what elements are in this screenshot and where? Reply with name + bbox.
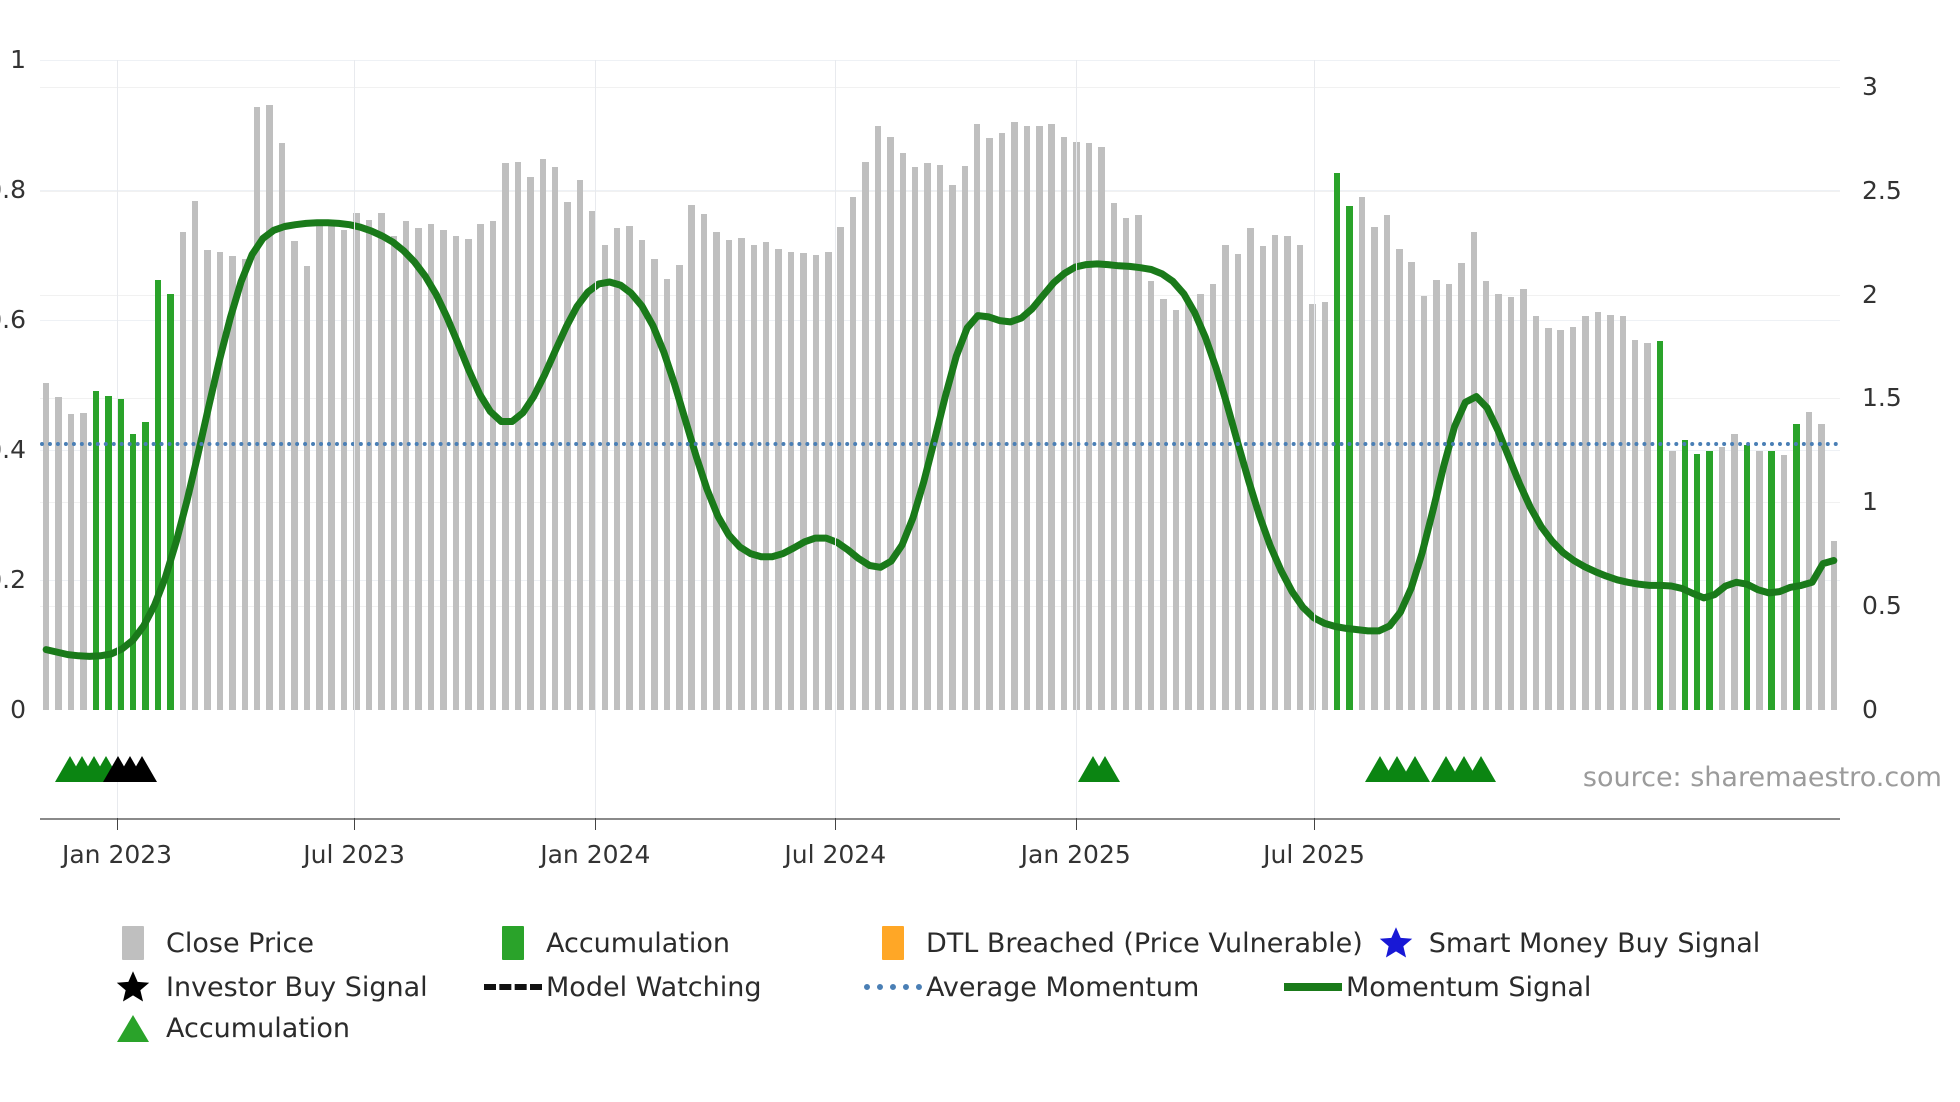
- legend-symbol: [860, 926, 926, 960]
- legend-symbol: [100, 969, 166, 1005]
- y-axis-right: 00.511.522.53: [1848, 60, 1938, 710]
- x-tick-mark: [1314, 818, 1315, 830]
- x-tick-label: Jan 2024: [540, 840, 650, 869]
- legend-item[interactable]: Momentum Signal: [1280, 972, 1740, 1003]
- legend-item[interactable]: Investor Buy Signal: [100, 969, 480, 1005]
- y-tick-left: 0.2: [0, 567, 26, 592]
- legend-row: Accumulation: [100, 1013, 1900, 1044]
- month-separator: [1314, 60, 1315, 818]
- x-tick-mark: [835, 818, 836, 830]
- chart-legend: Close PriceAccumulationDTL Breached (Pri…: [100, 925, 1900, 1052]
- y-tick-left: 0.4: [0, 437, 26, 462]
- y-axis-left: 00.20.40.60.81: [0, 60, 36, 710]
- x-tick-label: Jul 2025: [1263, 840, 1365, 869]
- legend-label: Average Momentum: [926, 972, 1199, 1003]
- legend-label: Momentum Signal: [1346, 972, 1591, 1003]
- legend-symbol: [1363, 925, 1429, 961]
- plot-area: [40, 60, 1840, 710]
- marker-accumulation[interactable]: [1090, 756, 1120, 782]
- triangle-icon: [117, 1015, 149, 1042]
- legend-symbol: [480, 984, 546, 990]
- x-tick-label: Jul 2023: [303, 840, 405, 869]
- plot-clip: [40, 60, 1840, 710]
- dtl-breached-swatch: [882, 926, 904, 960]
- close-price-swatch: [122, 926, 144, 960]
- y-tick-left: 0.6: [0, 307, 26, 332]
- month-separator: [354, 60, 355, 818]
- y-tick-right: 0.5: [1862, 593, 1902, 618]
- legend-symbol: [480, 926, 546, 960]
- x-tick-mark: [595, 818, 596, 830]
- y-tick-left: 0.8: [0, 177, 26, 202]
- marker-accumulation[interactable]: [1466, 756, 1496, 782]
- legend-row: Investor Buy SignalModel WatchingAverage…: [100, 969, 1900, 1005]
- y-tick-right: 1.5: [1862, 385, 1902, 410]
- average-momentum-line: [40, 442, 1840, 446]
- legend-item[interactable]: Accumulation: [480, 926, 860, 960]
- marker-investor-buy-signal[interactable]: [127, 756, 157, 782]
- legend-item[interactable]: Smart Money Buy Signal: [1363, 925, 1823, 961]
- legend-label: Accumulation: [166, 1013, 350, 1044]
- chart-root: 00.20.40.60.81 00.511.522.53 Jan 2023Jul…: [0, 0, 1960, 1102]
- y-tick-left: 1: [10, 47, 26, 72]
- x-tick-mark: [354, 818, 355, 830]
- x-tick-label: Jan 2023: [62, 840, 172, 869]
- y-tick-right: 1: [1862, 489, 1878, 514]
- legend-label: Investor Buy Signal: [166, 972, 428, 1003]
- y-tick-right: 2: [1862, 282, 1878, 307]
- legend-label: Close Price: [166, 928, 314, 959]
- legend-item[interactable]: Accumulation: [100, 1013, 480, 1044]
- momentum-signal-line-sample: [1284, 983, 1342, 991]
- month-separator: [835, 60, 836, 818]
- x-axis-line: [40, 818, 1840, 820]
- month-separator: [595, 60, 596, 818]
- signal-markers: [40, 742, 1840, 782]
- legend-label: Accumulation: [546, 928, 730, 959]
- legend-item[interactable]: Model Watching: [480, 972, 860, 1003]
- marker-accumulation[interactable]: [1400, 756, 1430, 782]
- momentum-signal-line: [40, 60, 1840, 710]
- month-separator: [117, 60, 118, 818]
- average-momentum-line-sample: [864, 984, 922, 990]
- model-watching-line: [484, 984, 542, 990]
- accumulation-swatch: [502, 926, 524, 960]
- legend-symbol: [100, 1015, 166, 1042]
- legend-label: Smart Money Buy Signal: [1429, 928, 1761, 959]
- legend-symbol: [1280, 983, 1346, 991]
- y-tick-right: 0: [1862, 697, 1878, 722]
- star-icon: [115, 969, 151, 1005]
- month-separator: [1076, 60, 1077, 818]
- y-tick-right: 3: [1862, 74, 1878, 99]
- legend-row: Close PriceAccumulationDTL Breached (Pri…: [100, 925, 1900, 961]
- x-tick-mark: [117, 818, 118, 830]
- source-watermark: source: sharemaestro.com: [1583, 762, 1942, 793]
- star-icon: [1378, 925, 1414, 961]
- legend-symbol: [100, 926, 166, 960]
- legend-item[interactable]: Close Price: [100, 926, 480, 960]
- legend-item[interactable]: Average Momentum: [860, 972, 1280, 1003]
- y-tick-left: 0: [10, 697, 26, 722]
- x-tick-label: Jul 2024: [784, 840, 886, 869]
- x-tick-mark: [1076, 818, 1077, 830]
- x-tick-label: Jan 2025: [1021, 840, 1131, 869]
- legend-symbol: [860, 984, 926, 990]
- legend-label: Model Watching: [546, 972, 761, 1003]
- legend-item[interactable]: DTL Breached (Price Vulnerable): [860, 926, 1363, 960]
- y-tick-right: 2.5: [1862, 178, 1902, 203]
- legend-label: DTL Breached (Price Vulnerable): [926, 928, 1363, 959]
